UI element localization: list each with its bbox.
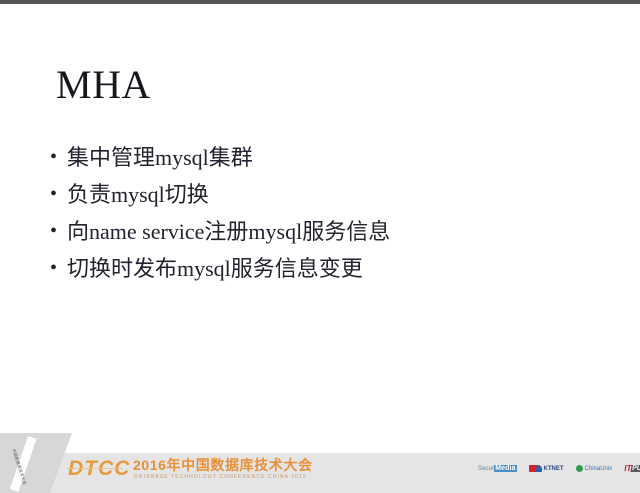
list-item: • 切换时发布mysql服务信息变更: [50, 250, 590, 287]
bullet-point-icon: •: [50, 139, 67, 176]
ktnet-logo: KTNET: [529, 465, 564, 472]
list-item: • 向name service注册mysql服务信息: [50, 213, 590, 250]
itpub-logo: IT PUB: [624, 464, 640, 473]
list-item: • 集中管理mysql集群: [50, 139, 590, 176]
secur-media-logo: Secur Media: [478, 465, 517, 472]
conference-title: 2016年中国数据库技术大会: [133, 457, 313, 473]
list-item-label: 负责mysql切换: [67, 176, 209, 213]
chinaunix-logo: ChinaUnix: [576, 465, 613, 472]
secur-media-logo-text-a: Secur: [478, 466, 494, 472]
bullet-point-icon: •: [50, 176, 67, 213]
itpub-logo-text-b: PUB: [631, 465, 640, 472]
conference-subtitle: DATABASE TECHNOLOGY CONFERENCE CHINA 201…: [134, 474, 307, 481]
bullet-list: • 集中管理mysql集群 • 负责mysql切换 • 向name servic…: [50, 139, 590, 287]
dtcc-logo: DTCC: [68, 457, 130, 481]
list-item-label: 向name service注册mysql服务信息: [67, 213, 390, 250]
sponsor-logo-strip: Secur Media KTNET ChinaUnix IT PUB: [478, 464, 640, 473]
bullet-point-icon: •: [50, 250, 67, 287]
chinaunix-logo-text: ChinaUnix: [585, 466, 613, 472]
ktnet-logo-text: KTNET: [544, 466, 564, 472]
slide-canvas: MHA • 集中管理mysql集群 • 负责mysql切换 • 向name se…: [0, 0, 640, 493]
dtcc-logo-strike-icon: [67, 468, 123, 469]
bullet-point-icon: •: [50, 213, 67, 250]
ktnet-logo-mark-icon: [529, 465, 542, 472]
list-item: • 负责mysql切换: [50, 176, 590, 213]
chinaunix-logo-mark-icon: [576, 465, 583, 472]
list-item-label: 集中管理mysql集群: [67, 139, 253, 176]
page-title: MHA: [56, 62, 151, 108]
slide-content-area: MHA • 集中管理mysql集群 • 负责mysql切换 • 向name se…: [0, 4, 640, 453]
secur-media-logo-text-b: Media: [494, 465, 516, 472]
list-item-label: 切换时发布mysql服务信息变更: [67, 250, 363, 287]
